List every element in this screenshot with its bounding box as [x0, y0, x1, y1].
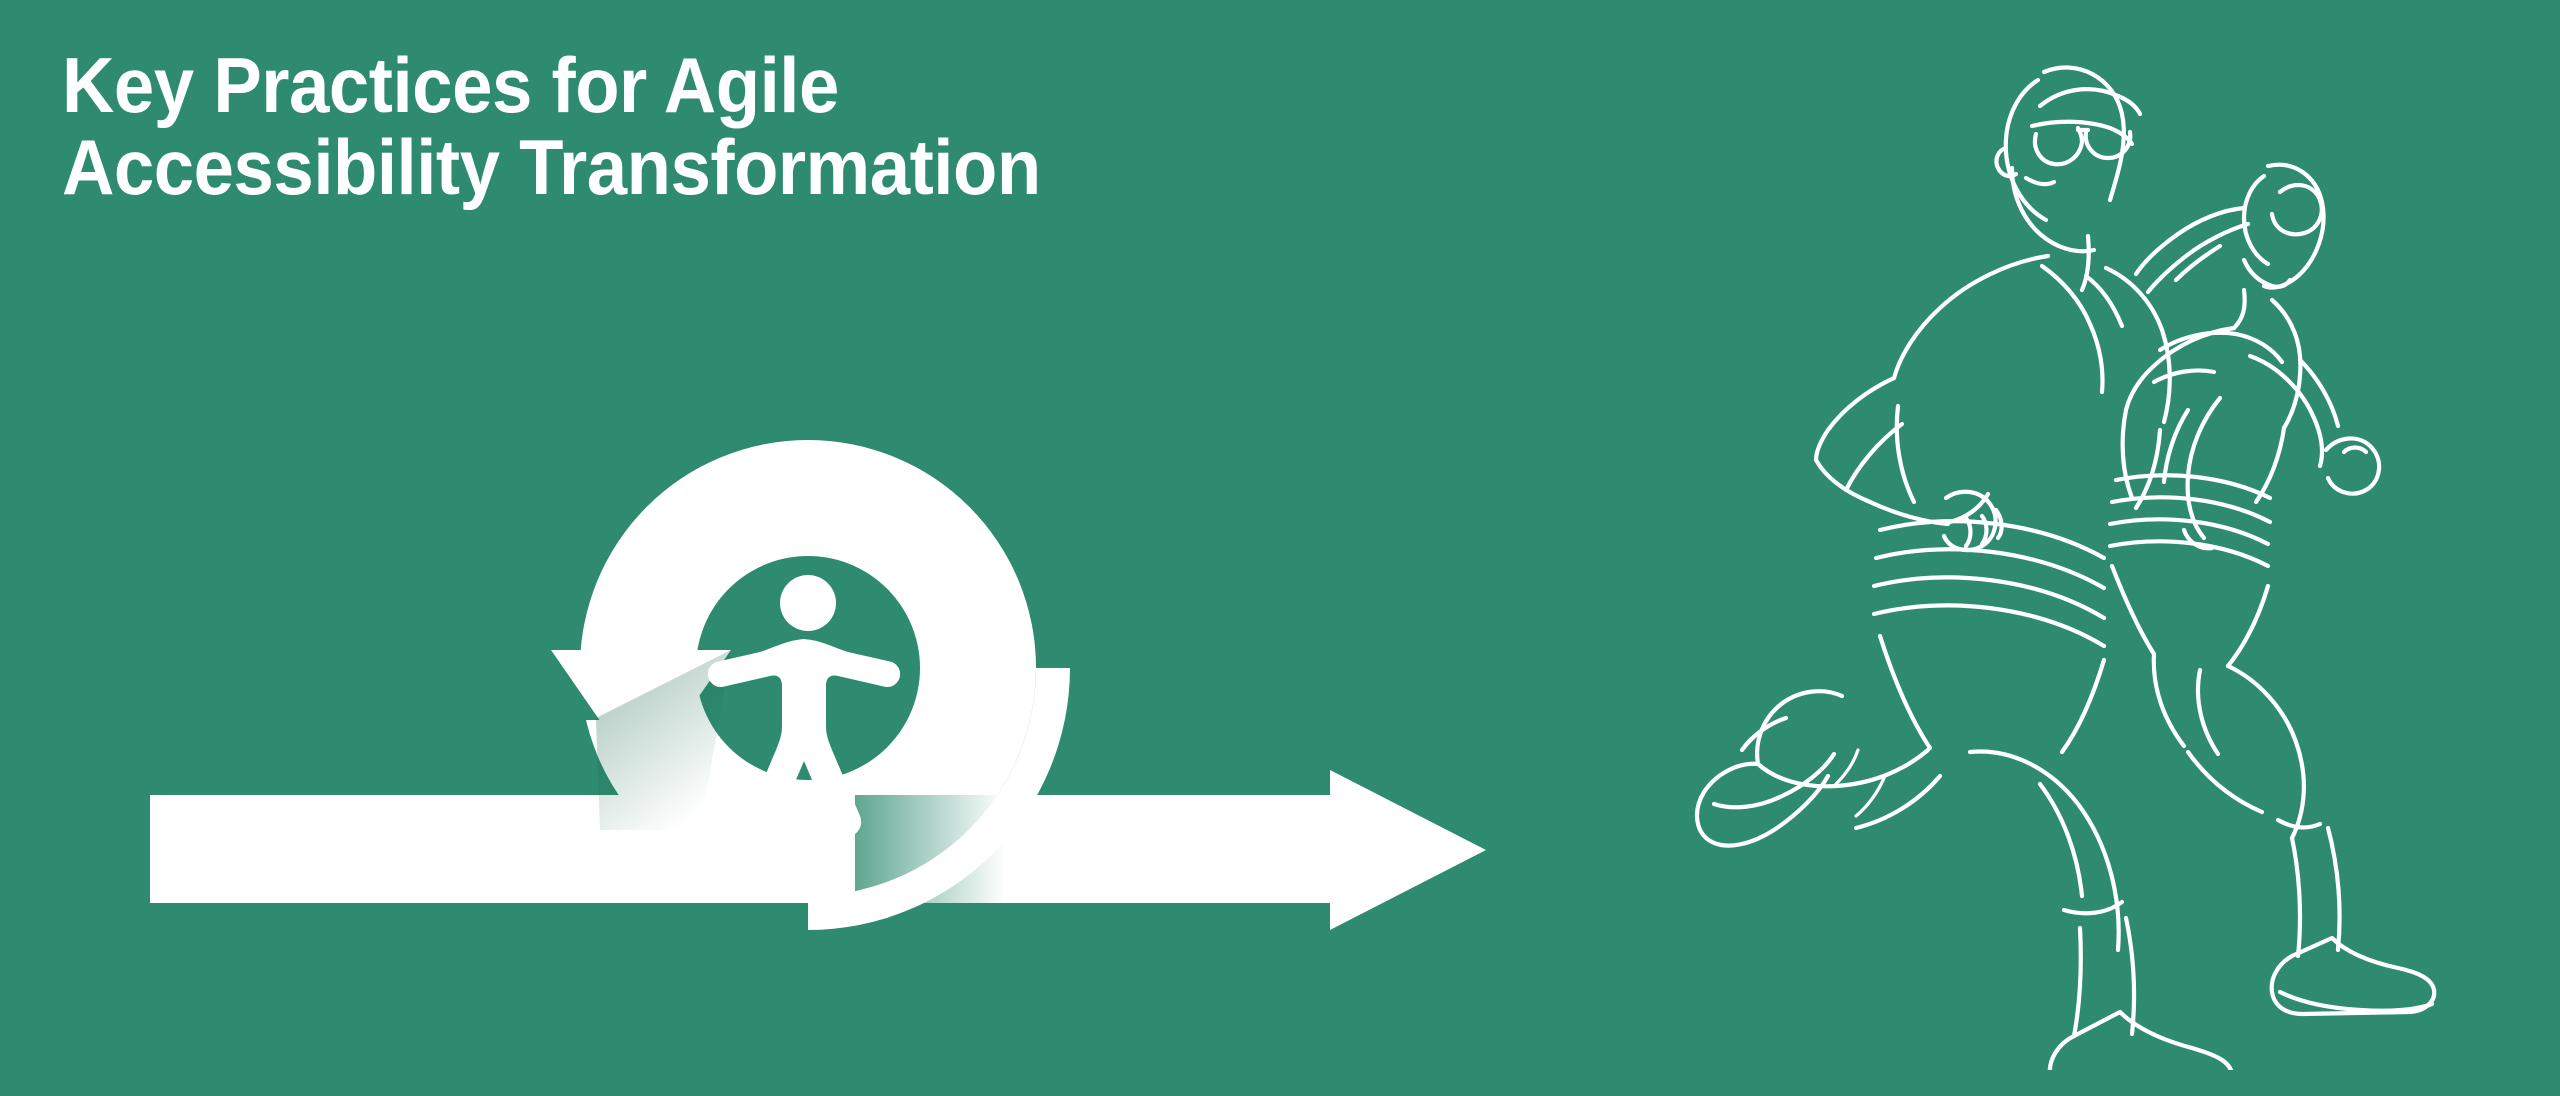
title-line-1: Key Practices for Agile [62, 44, 1411, 126]
male-runner [1757, 68, 2170, 1036]
banner-root: Key Practices for Agile Accessibility Tr… [0, 0, 2560, 1096]
running-couple-line-art [1640, 10, 2480, 1070]
female-shoe [2272, 938, 2435, 1014]
page-title: Key Practices for Agile Accessibility Tr… [62, 44, 1512, 208]
female-runner [2110, 165, 2379, 956]
title-line-2: Accessibility Transformation [62, 126, 1411, 208]
male-shoe [1697, 718, 2232, 1070]
agile-loop-graphic [0, 400, 1560, 1000]
